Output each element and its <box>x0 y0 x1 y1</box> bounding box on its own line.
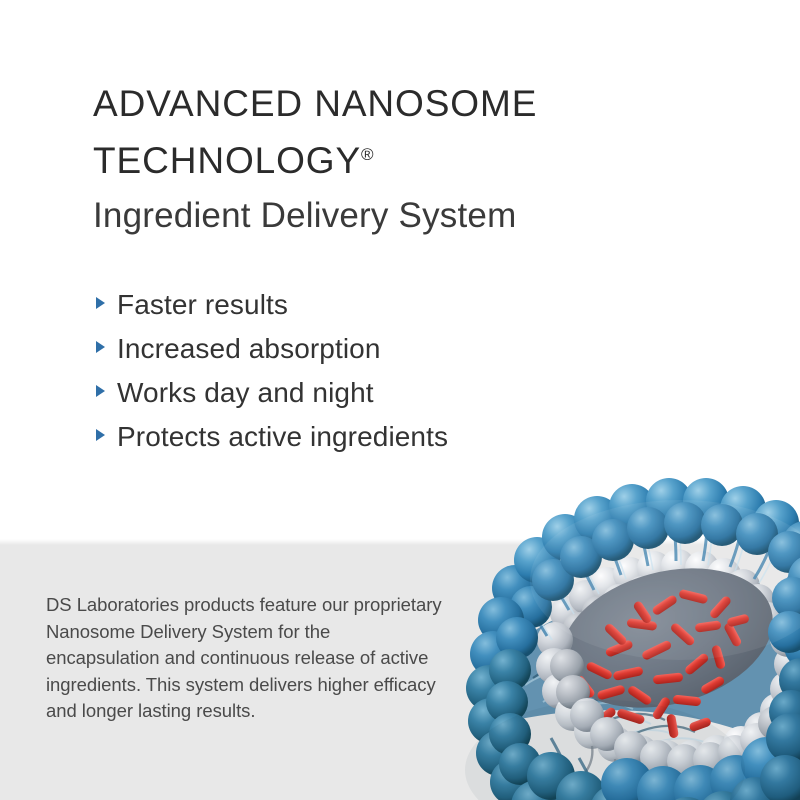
page-title-line-1: ADVANCED NANOSOME <box>93 83 537 124</box>
triangle-right-icon <box>95 296 107 310</box>
list-item: Protects active ingredients <box>95 420 448 453</box>
list-item: Faster results <box>95 288 448 321</box>
triangle-right-icon <box>95 428 107 442</box>
benefit-label: Increased absorption <box>117 332 381 365</box>
benefit-label: Protects active ingredients <box>117 420 448 453</box>
nanosome-liposome-illustration <box>455 470 800 800</box>
headline-block: ADVANCED NANOSOMETECHNOLOGY® Ingredient … <box>93 78 713 238</box>
page-title-line-2: TECHNOLOGY <box>93 140 361 181</box>
benefit-label: Faster results <box>117 288 288 321</box>
page-title: ADVANCED NANOSOMETECHNOLOGY® <box>93 78 713 186</box>
page-subtitle: Ingredient Delivery System <box>93 194 713 238</box>
triangle-right-icon <box>95 384 107 398</box>
benefits-list: Faster results Increased absorption Work… <box>95 288 448 464</box>
description-paragraph: DS Laboratories products feature our pro… <box>46 592 446 725</box>
registered-trademark-symbol: ® <box>361 145 374 164</box>
benefit-label: Works day and night <box>117 376 374 409</box>
triangle-right-icon <box>95 340 107 354</box>
nanosome-svg <box>455 470 800 800</box>
nanosome-technology-infographic: ADVANCED NANOSOMETECHNOLOGY® Ingredient … <box>0 0 800 800</box>
list-item: Increased absorption <box>95 332 448 365</box>
list-item: Works day and night <box>95 376 448 409</box>
